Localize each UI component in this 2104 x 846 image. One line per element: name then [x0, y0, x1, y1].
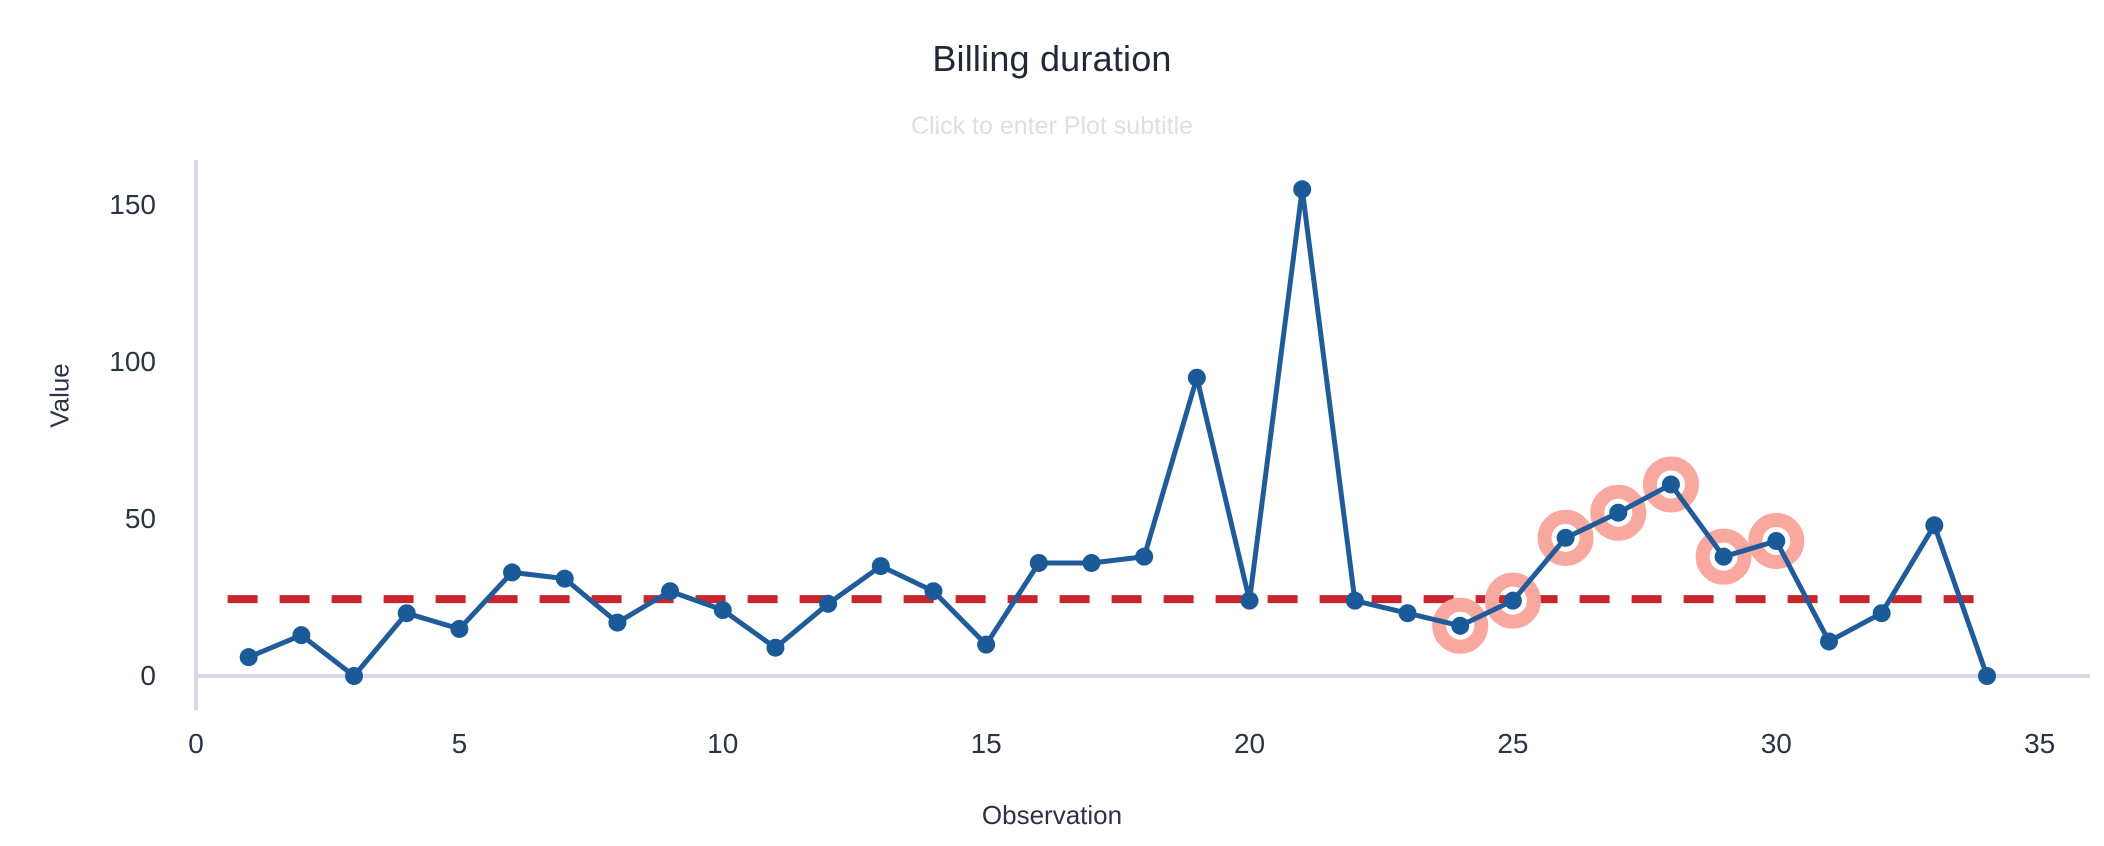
data-point-marker[interactable] — [1925, 516, 1943, 534]
data-point-marker[interactable] — [556, 570, 574, 588]
plot-area — [0, 0, 2104, 846]
data-point-marker[interactable] — [819, 595, 837, 613]
data-point-marker[interactable] — [1083, 554, 1101, 572]
data-point-marker[interactable] — [398, 604, 416, 622]
data-point-marker[interactable] — [1451, 617, 1469, 635]
data-point-marker[interactable] — [1557, 529, 1575, 547]
data-point-marker[interactable] — [1715, 548, 1733, 566]
data-point-marker[interactable] — [714, 601, 732, 619]
data-point-marker[interactable] — [1609, 504, 1627, 522]
data-point-marker[interactable] — [1135, 548, 1153, 566]
data-point-marker[interactable] — [661, 582, 679, 600]
data-point-marker[interactable] — [608, 614, 626, 632]
chart-container: Billing duration Click to enter Plot sub… — [0, 0, 2104, 846]
data-point-marker[interactable] — [1399, 604, 1417, 622]
data-point-marker[interactable] — [977, 636, 995, 654]
data-point-marker[interactable] — [1767, 532, 1785, 550]
data-point-marker[interactable] — [1873, 604, 1891, 622]
data-point-marker[interactable] — [1346, 592, 1364, 610]
data-point-marker[interactable] — [766, 639, 784, 657]
data-point-marker[interactable] — [345, 667, 363, 685]
data-point-marker[interactable] — [1030, 554, 1048, 572]
data-point-marker[interactable] — [1293, 180, 1311, 198]
data-point-marker[interactable] — [1241, 592, 1259, 610]
data-point-marker[interactable] — [450, 620, 468, 638]
data-point-marker[interactable] — [1978, 667, 1996, 685]
data-point-marker[interactable] — [924, 582, 942, 600]
data-point-marker[interactable] — [1820, 632, 1838, 650]
data-point-marker[interactable] — [292, 626, 310, 644]
data-point-marker[interactable] — [1662, 475, 1680, 493]
data-point-marker[interactable] — [1504, 592, 1522, 610]
data-point-marker[interactable] — [503, 563, 521, 581]
data-point-marker[interactable] — [1188, 369, 1206, 387]
data-point-marker[interactable] — [240, 648, 258, 666]
data-point-marker[interactable] — [872, 557, 890, 575]
